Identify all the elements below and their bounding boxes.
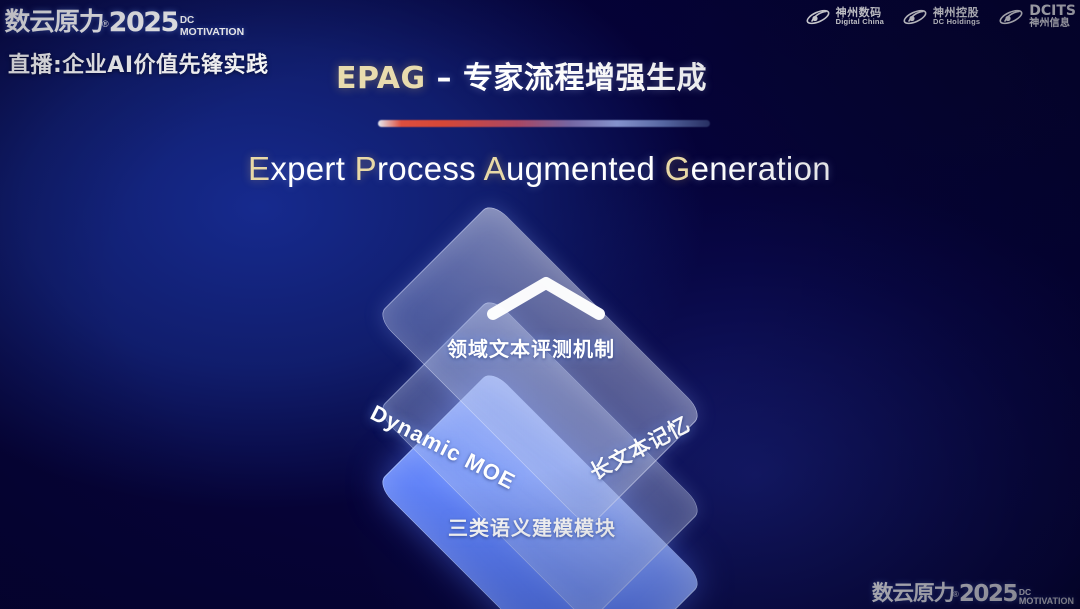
title-acronym: EPAG — [336, 61, 426, 96]
watermark-logo-registered-mark: ® — [953, 590, 959, 599]
event-logo-registered-mark: ® — [102, 19, 109, 29]
subtitle-word-generation: eneration — [691, 150, 831, 187]
partner-logo-group: 神州数码 Digital China 神州控股 DC Holdings — [805, 4, 1076, 29]
slide-title: EPAG – 专家流程增强生成 — [336, 53, 707, 97]
watermark-logo-dc-motivation: DC MOTIVATION — [1019, 588, 1074, 607]
watermark-logo-dc-text: DC — [1019, 588, 1074, 597]
subtitle-capital-a: A — [484, 150, 506, 187]
swirl-icon — [902, 6, 928, 28]
event-logo: 数云原力 ® 2025 DC MOTIVATION — [6, 2, 244, 38]
title-separator: – — [426, 61, 463, 96]
diagram-layer-top-label: 领域文本评测机制 — [447, 333, 615, 362]
accent-divider — [378, 120, 710, 127]
partner-name-cn: DCITS — [1029, 4, 1076, 19]
swirl-icon — [805, 6, 831, 28]
partner-name-en: 神州信息 — [1029, 19, 1076, 30]
partner-logo-text: DCITS 神州信息 — [1029, 4, 1076, 29]
subtitle-word-expert: xpert — [270, 150, 354, 187]
subtitle-word-process: rocess — [377, 150, 484, 187]
slide-subtitle: Expert Process Augmented Generation — [248, 150, 831, 188]
subtitle-capital-e: E — [248, 150, 270, 187]
title-chinese: 专家流程增强生成 — [463, 61, 707, 96]
slide-stage: 数云原力 ® 2025 DC MOTIVATION 直播:企业AI价值先锋实践 … — [0, 0, 1080, 609]
subtitle-word-augmented: ugmented — [506, 150, 665, 187]
partner-name-en: DC Holdings — [933, 18, 980, 26]
swirl-icon — [998, 6, 1024, 28]
partner-logo-text: 神州数码 Digital China — [836, 7, 884, 26]
live-session-label: 直播:企业AI价值先锋实践 — [8, 47, 269, 79]
partner-logo-digital-china: 神州数码 Digital China — [805, 6, 884, 28]
event-logo-year: 2025 — [109, 7, 178, 38]
partner-logo-text: 神州控股 DC Holdings — [933, 7, 980, 26]
partner-name-en: Digital China — [836, 18, 884, 26]
event-logo-chinese: 数云原力 — [5, 2, 104, 38]
watermark-logo: 数云原力 ® 2025 DC MOTIVATION — [873, 577, 1074, 607]
partner-logo-dc-holdings: 神州控股 DC Holdings — [902, 6, 980, 28]
event-logo-motivation-text: MOTIVATION — [180, 27, 244, 38]
event-logo-dc-text: DC — [180, 16, 244, 26]
chevron-up-icon — [487, 276, 605, 320]
watermark-logo-year: 2025 — [959, 581, 1017, 607]
subtitle-capital-g: G — [665, 150, 691, 187]
diagram-layer-middle-surface — [376, 296, 704, 609]
watermark-logo-chinese: 数云原力 — [872, 577, 954, 607]
diagram-layer-bottom-surface — [376, 369, 704, 609]
diagram-layer-middle-label-left: Dynamic MOE — [366, 400, 519, 495]
watermark-logo-motivation-text: MOTIVATION — [1019, 597, 1074, 606]
partner-logo-dcits: DCITS 神州信息 — [998, 4, 1076, 29]
subtitle-capital-p: P — [355, 150, 377, 187]
diagram-layer-middle-label-right: 长文本记忆 — [584, 408, 695, 486]
event-logo-dc-motivation: DC MOTIVATION — [180, 16, 244, 38]
diagram-layer-bottom-label: 三类语义建模模块 — [448, 512, 616, 541]
diagram-layer-top-surface — [376, 201, 704, 529]
